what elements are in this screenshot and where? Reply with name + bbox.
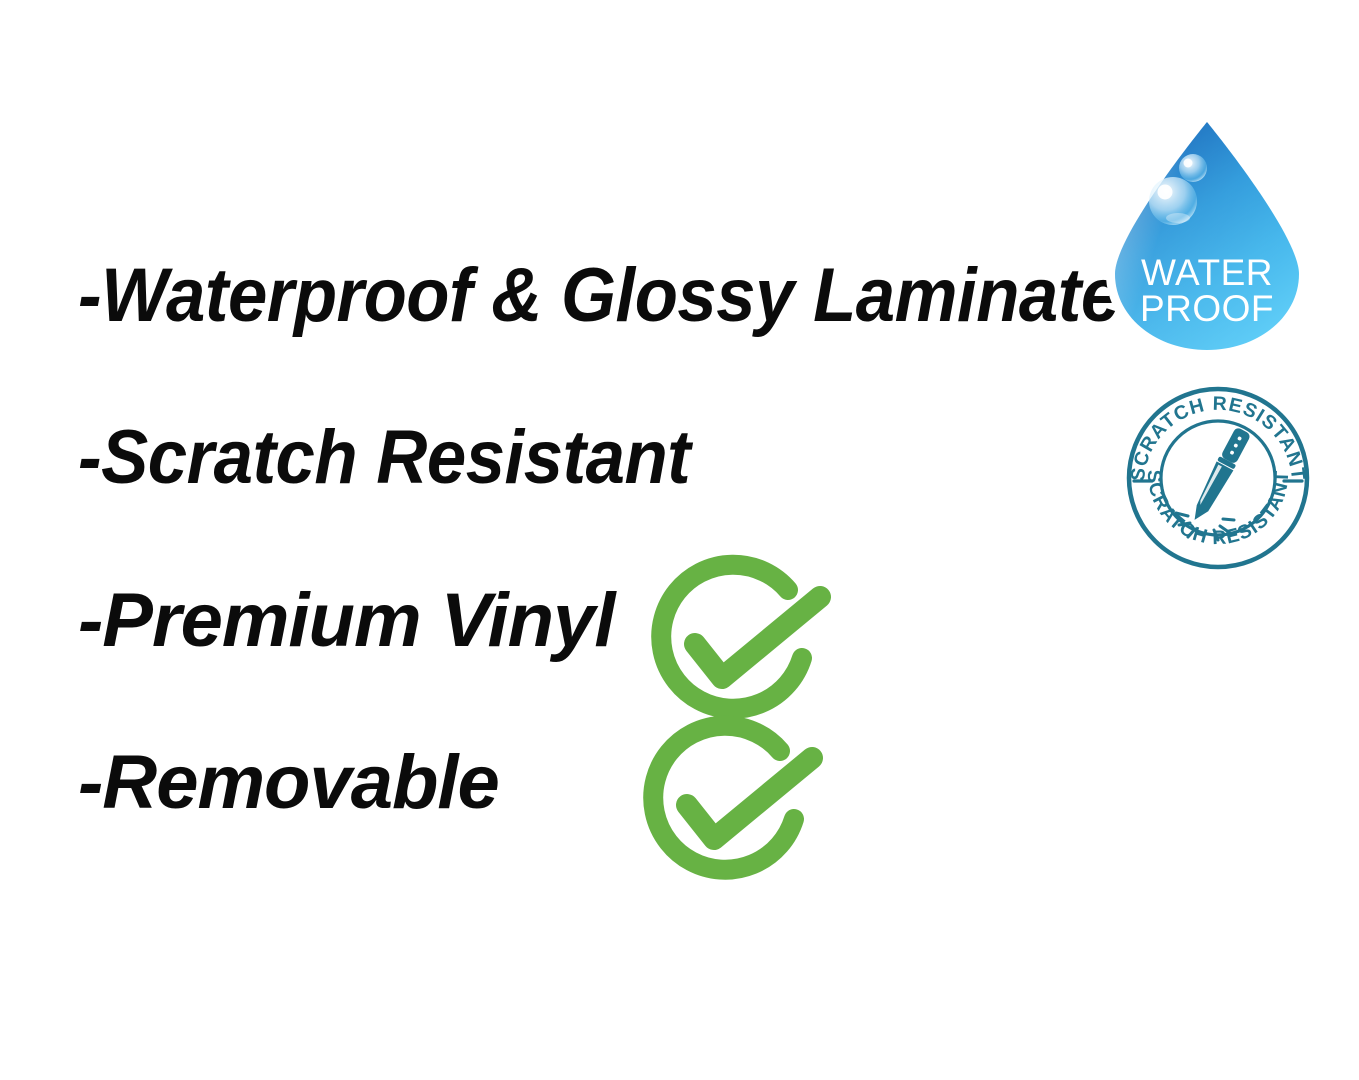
water-drop-icon: [1102, 108, 1312, 363]
check-circle-icon: [632, 709, 824, 901]
feature-item-premium-vinyl: -Premium Vinyl: [78, 583, 614, 659]
waterproof-badge: WATER PROOF: [1102, 108, 1312, 363]
feature-list: -Waterproof & Glossy Laminated -Scratch …: [0, 0, 1100, 1080]
water-bubble-large-reflection: [1166, 213, 1190, 223]
water-bubble-large-highlight: [1158, 185, 1173, 200]
water-bubble-small-highlight: [1184, 159, 1193, 168]
check-circle-removable: [632, 709, 824, 901]
knife-stamp-icon: SCRATCH RESISTANT SCRATCH RESISTANT: [1126, 386, 1310, 570]
feature-item-waterproof-glossy-laminated: -Waterproof & Glossy Laminated: [78, 258, 1162, 334]
knife-icon: [1188, 426, 1253, 525]
water-bubble-small-icon: [1179, 154, 1207, 182]
feature-item-scratch-resistant: -Scratch Resistant: [78, 420, 690, 496]
feature-item-removable: -Removable: [78, 745, 499, 821]
scratch-resistant-badge: SCRATCH RESISTANT SCRATCH RESISTANT: [1126, 386, 1310, 570]
feature-graphic-canvas: -Waterproof & Glossy Laminated -Scratch …: [0, 0, 1359, 1080]
water-drop-sheen: [1115, 122, 1299, 350]
knife-blade: [1188, 461, 1234, 525]
